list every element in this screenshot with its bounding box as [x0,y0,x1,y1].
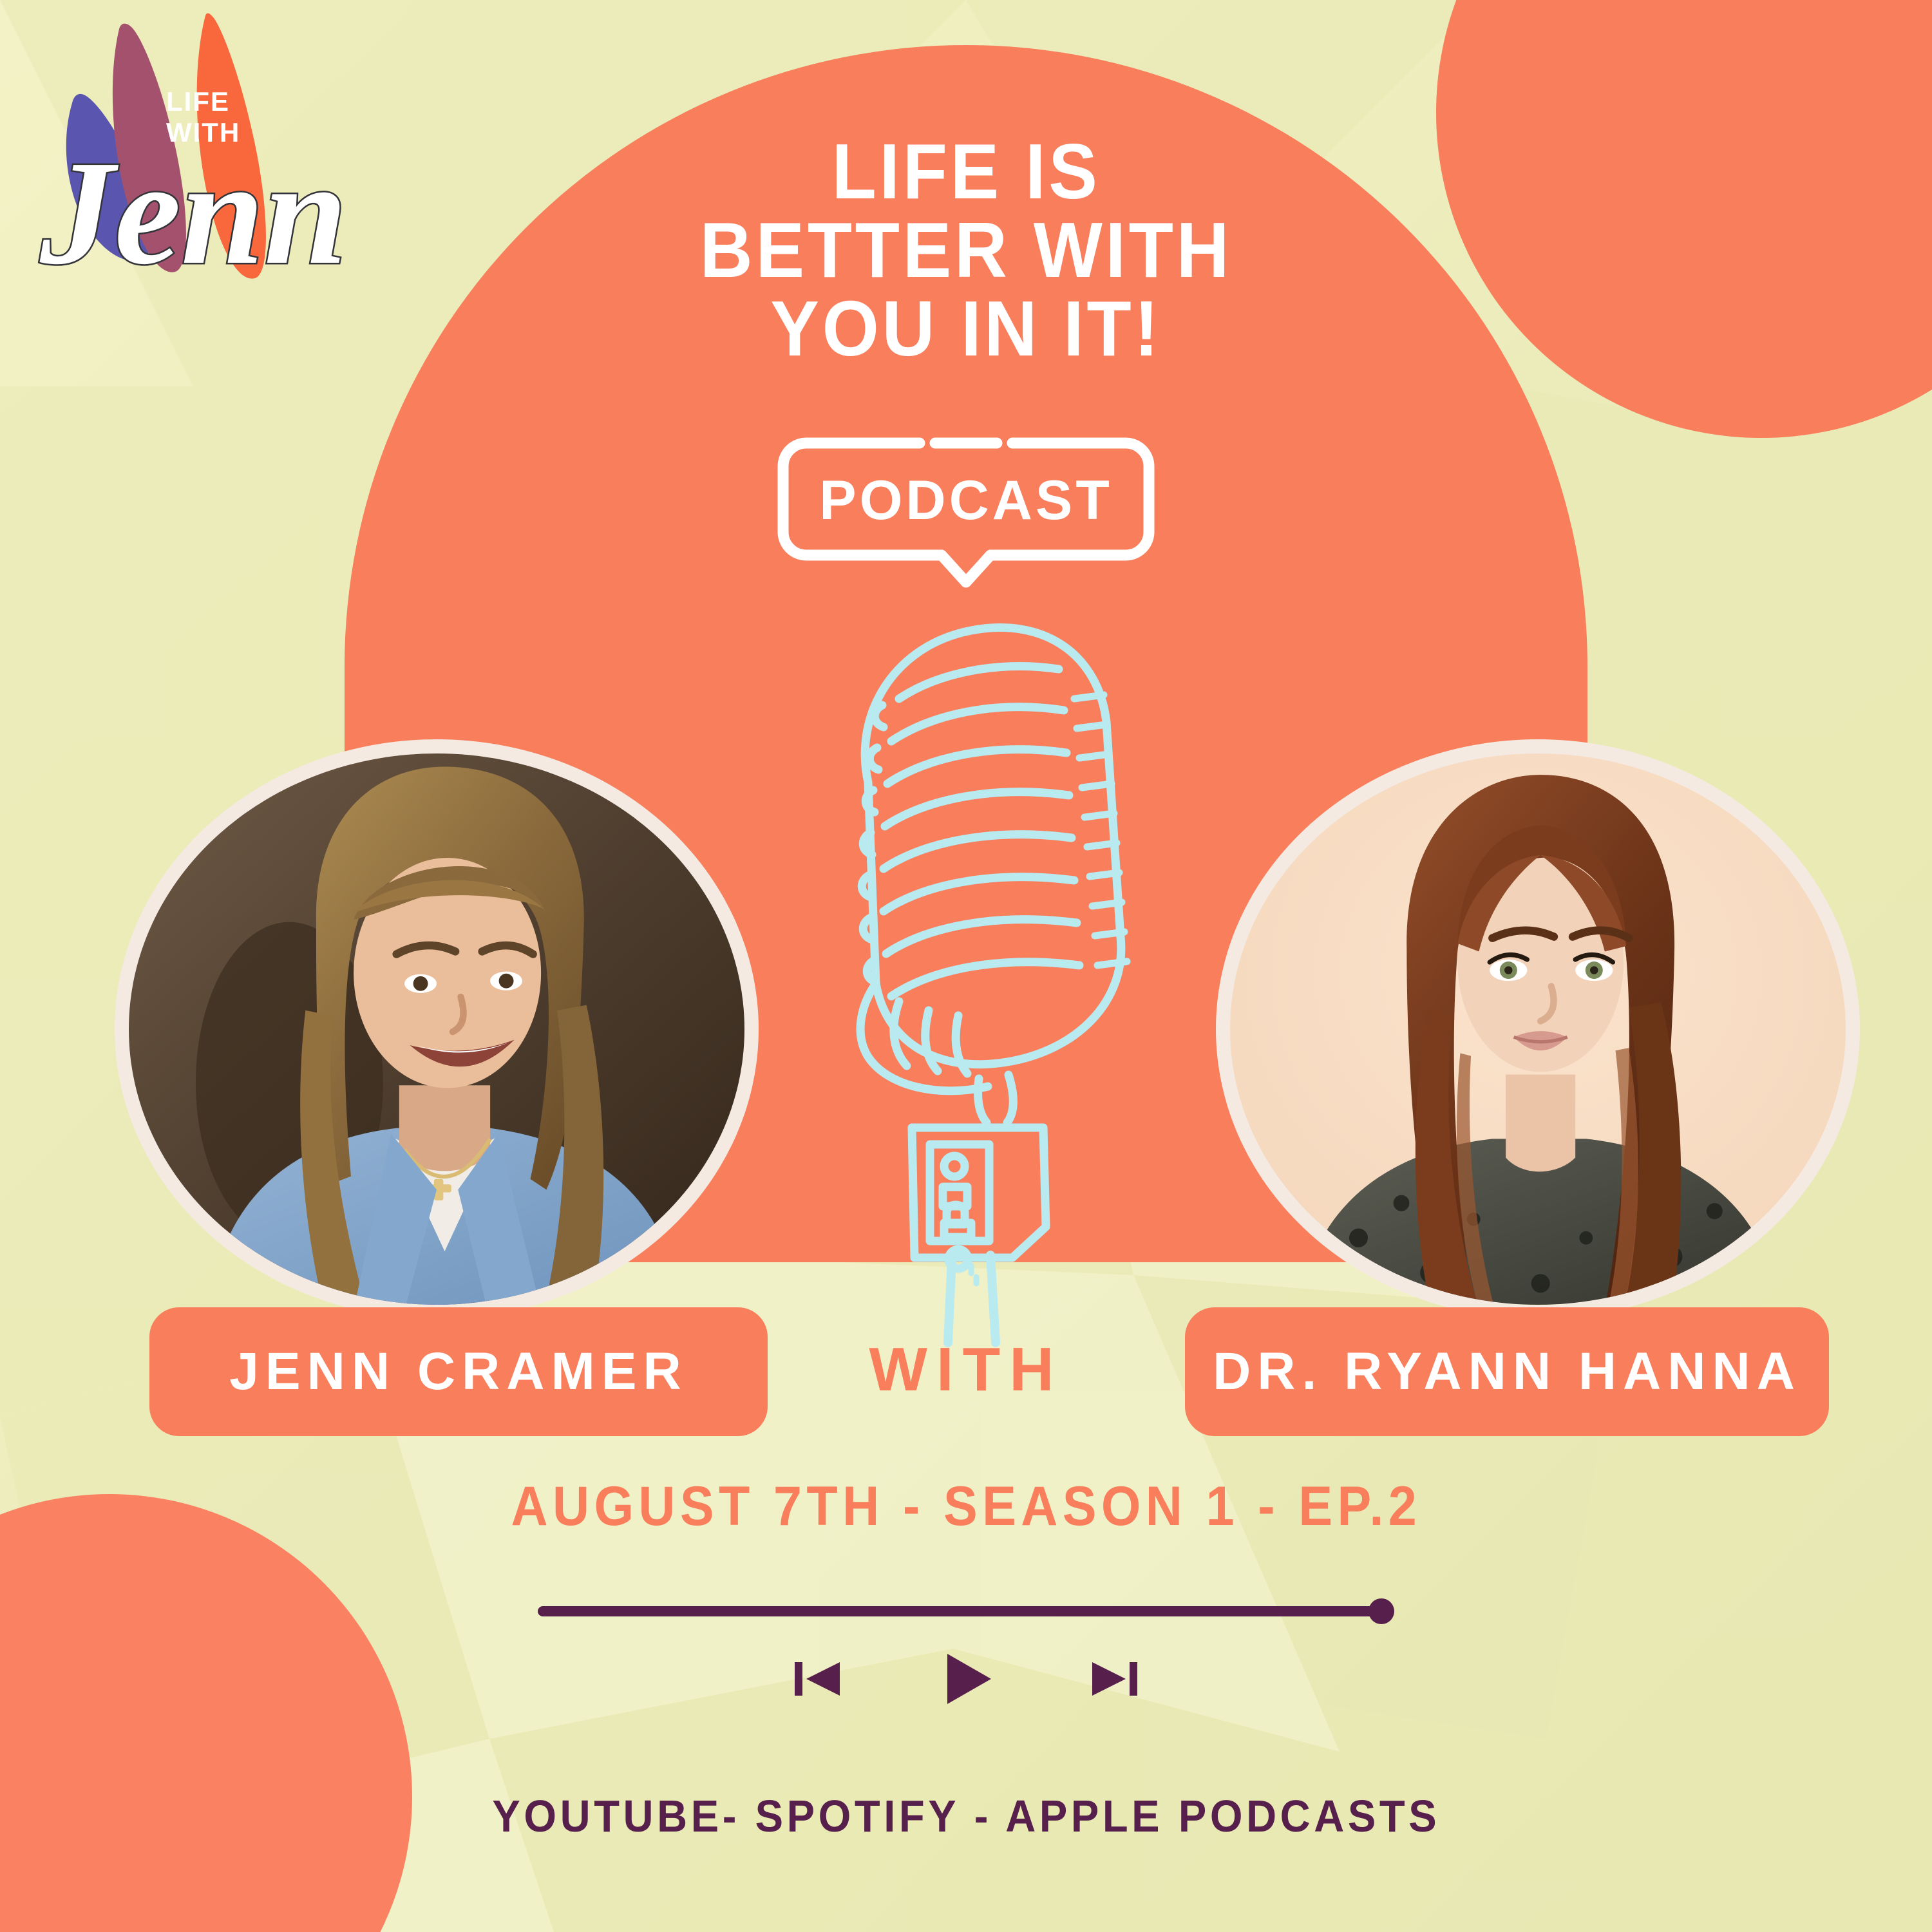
brand-logo[interactable]: LIFE WITH Jenn [26,6,361,348]
host-right [1216,739,1860,1319]
episode-meta-text: AUGUST 7TH - SEASON 1 - EP.2 [511,1475,1421,1539]
avatar-ring-left [115,739,759,1319]
platforms-line: YOUTUBE- SPOTIFY - APPLE PODCASTS [0,1790,1932,1842]
progress-track[interactable] [538,1606,1394,1616]
avatar-left [129,753,744,1305]
player-progress-bar[interactable] [538,1598,1394,1624]
platforms-text: YOUTUBE- SPOTIFY - APPLE PODCASTS [492,1790,1440,1842]
skip-back-icon-triangle [806,1662,840,1696]
mic-switch-3 [944,1223,971,1237]
host-left [115,739,759,1319]
headline-line-2: BETTER WITH [547,211,1385,289]
logo-script-name: Jenn [39,130,347,296]
podcast-badge-label: PODCAST [819,469,1112,531]
player-transport-controls [786,1643,1146,1714]
host-name-badge-right: DR. RYANN HANNA [1185,1307,1829,1436]
play-icon [947,1654,991,1704]
skip-forward-icon-bar [1130,1662,1137,1696]
avatar-right [1230,753,1846,1305]
hosts-connector-label: WITH [869,1334,1063,1405]
skip-forward-icon-triangle [1092,1662,1126,1696]
page-title: LIFE IS BETTER WITH YOU IN IT! [515,132,1417,368]
mic-stand-leg-right [990,1255,996,1343]
avatar-ring-right [1216,739,1860,1319]
mic-knob-1 [944,1156,965,1177]
decorative-circle-bottom-left [0,1494,412,1932]
play-button[interactable] [931,1643,1001,1714]
progress-knob[interactable] [1368,1598,1394,1624]
host-name-badge-left: JENN CRAMER [149,1307,768,1436]
next-track-button[interactable] [1084,1648,1146,1710]
previous-track-button[interactable] [786,1648,848,1710]
mic-stand-leg-left [948,1259,952,1343]
podcast-episode-poster: LIFE WITH Jenn LIFE IS BETTER WITH YOU I… [0,0,1932,1932]
skip-back-icon-bar [795,1662,802,1696]
podcast-badge: PODCAST [773,433,1159,594]
headline-line-1: LIFE IS [547,132,1385,211]
headline-line-3: YOU IN IT! [547,289,1385,368]
logo-line1: LIFE [166,86,230,117]
episode-meta: AUGUST 7TH - SEASON 1 - EP.2 [0,1475,1932,1539]
vintage-microphone-icon [786,589,1146,1343]
